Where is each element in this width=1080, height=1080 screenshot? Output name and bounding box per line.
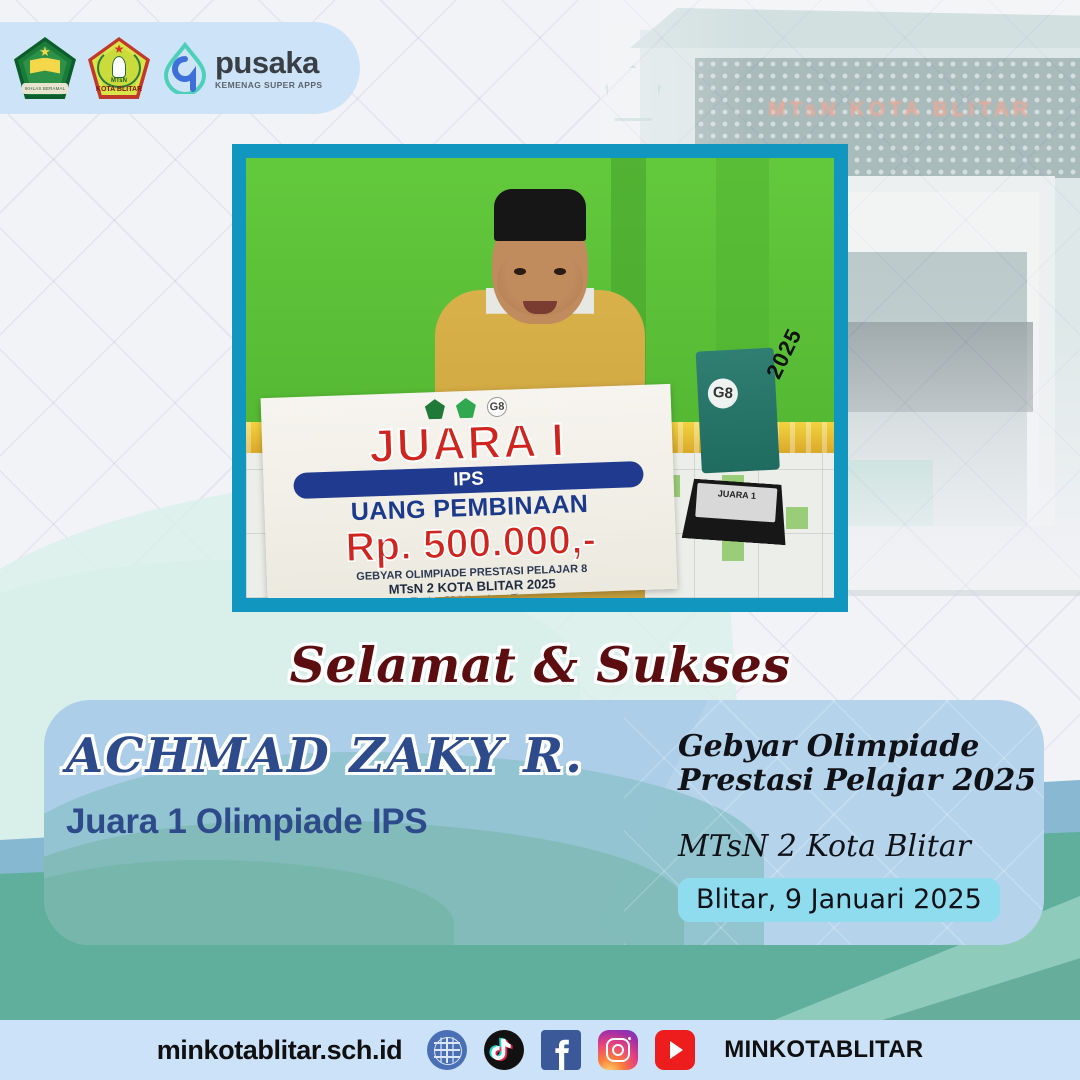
pusaka-brand: pusaka KEMENAG SUPER APPS	[162, 42, 323, 94]
instagram-dot	[628, 1037, 631, 1040]
trophy-label: JUARA 1	[695, 483, 777, 522]
date-badge: Blitar, 9 Januari 2025	[678, 878, 1000, 922]
poster-canvas: MTsN KOTA BLITAR ★ IKHLAS BERAMAL	[0, 0, 1080, 1080]
pusaka-droplet-icon	[162, 42, 208, 94]
school-name: MTsN 2 Kota Blitar	[678, 829, 1044, 864]
kemenag-star-icon: ★	[39, 45, 51, 58]
facebook-icon[interactable]	[541, 1030, 581, 1070]
photo-student-eye-right	[554, 268, 566, 275]
pusaka-tagline: KEMENAG SUPER APPS	[215, 81, 323, 90]
kemenag-logo: ★ IKHLAS BERAMAL	[14, 37, 76, 99]
photo-trophy: 2025 G8 JUARA 1	[681, 346, 805, 553]
footer-bar: minkotablitar.sch.id MINKOTABLIT	[0, 1020, 1080, 1080]
mtsn-tower-icon	[112, 56, 126, 78]
kemenag-ribbon: IKHLAS BERAMAL	[22, 83, 68, 94]
tiktok-icon[interactable]	[484, 1030, 524, 1070]
card-right-column: Gebyar Olimpiade Prestasi Pelajar 2025 M…	[678, 730, 1044, 922]
instagram-icon[interactable]	[598, 1030, 638, 1070]
photo-student-peci-cap	[494, 189, 586, 241]
footer-social-handle[interactable]: MINKOTABLITAR	[724, 1036, 923, 1064]
winner-info-card: ACHMAD ZAKY R. Juara 1 Olimpiade IPS Geb…	[44, 700, 1044, 945]
photo-student-eye-left	[514, 268, 526, 275]
globe-icon[interactable]	[427, 1030, 467, 1070]
pusaka-app-name: pusaka	[215, 47, 323, 78]
globe-lines	[434, 1049, 460, 1051]
winner-photo: 2025 G8 JUARA 1 G8 JUARA I IPS UANG PEMB…	[246, 158, 834, 598]
header-logo-bar: ★ IKHLAS BERAMAL ★ MTsN KOTA BLITAR pusa…	[0, 22, 360, 114]
youtube-icon[interactable]	[655, 1030, 695, 1070]
footer-website[interactable]: minkotablitar.sch.id	[157, 1035, 403, 1066]
winner-achievement: Juara 1 Olimpiade IPS	[66, 802, 626, 842]
mtsn-logo-line2: KOTA BLITAR	[88, 86, 150, 93]
winner-name: ACHMAD ZAKY R.	[66, 728, 626, 784]
mtsn-kota-blitar-logo: ★ MTsN KOTA BLITAR	[88, 37, 150, 99]
certificate-board: G8 JUARA I IPS UANG PEMBINAAN Rp. 500.00…	[261, 384, 678, 598]
pusaka-text-block: pusaka KEMENAG SUPER APPS	[215, 47, 323, 90]
mtsn-logo-line1: MTsN	[88, 78, 150, 84]
greeting-text: Selamat & Sukses	[0, 636, 1080, 694]
event-title-line1: Gebyar Olimpiade	[678, 730, 1044, 764]
winner-photo-frame: 2025 G8 JUARA 1 G8 JUARA I IPS UANG PEMB…	[232, 144, 848, 612]
event-title-line2: Prestasi Pelajar 2025	[678, 764, 1044, 798]
event-title: Gebyar Olimpiade Prestasi Pelajar 2025	[678, 730, 1044, 797]
card-left-column: ACHMAD ZAKY R. Juara 1 Olimpiade IPS	[66, 728, 626, 842]
youtube-play-triangle	[670, 1041, 683, 1059]
